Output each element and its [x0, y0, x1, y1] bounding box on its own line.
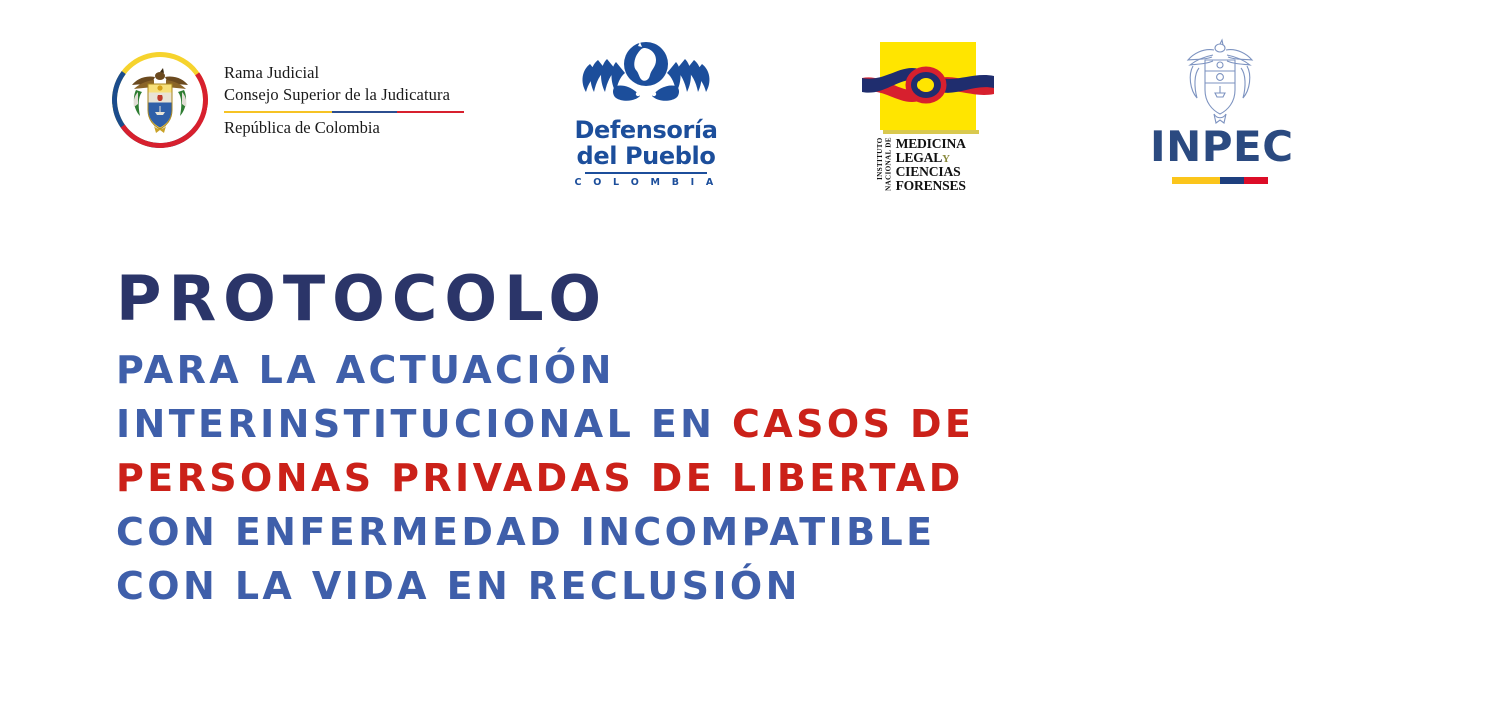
inpec-wordmark: INPEC — [1150, 126, 1290, 168]
logo-inpec: INPEC — [1150, 38, 1290, 184]
doves-and-map-icon — [572, 40, 720, 118]
defensoria-word-1: Defensoría — [572, 118, 720, 144]
logo-medicina-legal: INSTITUTO NACIONAL DE MEDICINA LEGALY CI… — [872, 42, 992, 193]
medicina-legal-line-4: FORENSES — [896, 179, 966, 193]
subtitle-line-2: INTERINSTITUCIONAL EN CASOS DE — [116, 398, 1216, 452]
colombia-coat-of-arms-icon — [128, 66, 192, 134]
subtitle-line-5: CON LA VIDA EN RECLUSIÓN — [116, 560, 1216, 614]
medicina-legal-emblem-icon — [880, 42, 976, 130]
defensoria-country-label: C O L O M B I A — [572, 177, 720, 188]
colombia-flag-rule — [224, 111, 464, 114]
rama-judicial-wordmark: Rama Judicial Consejo Superior de la Jud… — [224, 62, 464, 138]
page-title: PROTOCOLO — [116, 268, 1216, 330]
defensoria-word-2: del Pueblo — [572, 144, 720, 170]
inpec-colombia-flag-bar — [1172, 177, 1268, 184]
subtitle-line-4: CON ENFERMEDAD INCOMPATIBLE — [116, 506, 1216, 560]
institutional-logo-strip: Rama Judicial Consejo Superior de la Jud… — [0, 0, 1500, 200]
defensoria-underline — [585, 172, 707, 174]
rama-line-3: República de Colombia — [224, 118, 464, 138]
subtitle-line-2-highlight: CASOS DE — [732, 402, 974, 446]
inpec-coat-of-arms-icon — [1181, 38, 1259, 124]
medicina-legal-line-3: CIENCIAS — [896, 165, 966, 179]
logo-rama-judicial: Rama Judicial Consejo Superior de la Jud… — [112, 52, 464, 148]
cover-title-block: PROTOCOLO PARA LA ACTUACIÓN INTERINSTITU… — [116, 268, 1216, 614]
subtitle-line-3: PERSONAS PRIVADAS DE LIBERTAD — [116, 452, 1216, 506]
medicina-legal-line-2: LEGALY — [896, 151, 966, 165]
rama-line-2: Consejo Superior de la Judicatura — [224, 84, 464, 106]
medicina-legal-vertical-label: INSTITUTO NACIONAL DE — [876, 137, 893, 191]
subtitle-line-1: PARA LA ACTUACIÓN — [116, 344, 1216, 398]
logo-defensoria-del-pueblo: Defensoría del Pueblo C O L O M B I A — [572, 40, 720, 188]
medicina-legal-wordmark: MEDICINA LEGALY CIENCIAS FORENSES — [896, 137, 966, 193]
subtitle-line-2-text: INTERINSTITUCIONAL EN — [116, 402, 732, 446]
rama-judicial-seal-icon — [112, 52, 208, 148]
rama-line-1: Rama Judicial — [224, 62, 464, 84]
medicina-legal-emblem-shadow — [883, 130, 979, 134]
medicina-legal-line-2a: LEGAL — [896, 150, 943, 165]
medicina-legal-line-1: MEDICINA — [896, 137, 966, 151]
medicina-legal-line-2b: Y — [942, 153, 950, 165]
